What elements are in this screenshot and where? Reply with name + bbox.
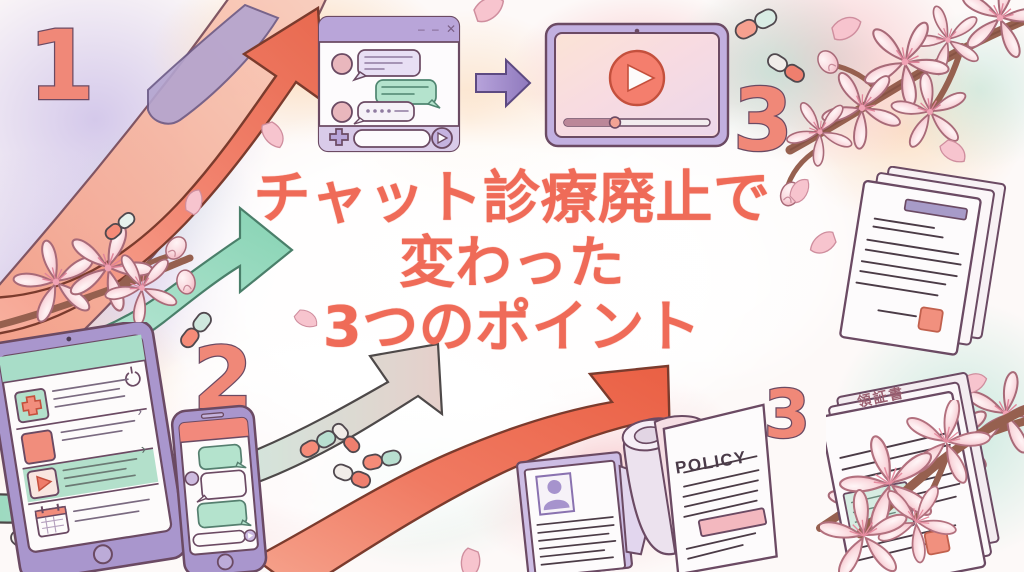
title-line-3: 3つのポイント: [0, 298, 1024, 358]
stamp: [924, 529, 950, 555]
step-number-1: 1: [28, 18, 95, 114]
title-line-2: 変わった: [0, 234, 1024, 294]
play-icon[interactable]: [610, 51, 664, 105]
progress-handle[interactable]: [610, 117, 621, 128]
chat-bubble: [376, 80, 436, 104]
title-line-1: チャット診療廃止で: [0, 168, 1024, 230]
home-button[interactable]: [217, 554, 233, 570]
chat-bubble: [198, 444, 246, 472]
send-icon[interactable]: [432, 128, 452, 148]
window-controls[interactable]: – – ✕: [418, 22, 458, 36]
video-player[interactable]: [542, 20, 732, 150]
progress-bar[interactable]: [564, 117, 710, 128]
step-number-3-top: 3: [733, 78, 793, 164]
avatar: [185, 471, 199, 485]
phone-device[interactable]: [156, 402, 286, 572]
chat-input[interactable]: [354, 130, 430, 147]
policy-document: [608, 398, 798, 572]
avatar: [332, 54, 352, 74]
chat-bubble: [195, 470, 247, 502]
send-icon[interactable]: [244, 530, 256, 542]
illustration-canvas: – – ✕: [0, 0, 1024, 572]
avatar: [332, 102, 352, 122]
page-title: チャット診療廃止で 変わった 3つのポイント: [0, 168, 1024, 358]
